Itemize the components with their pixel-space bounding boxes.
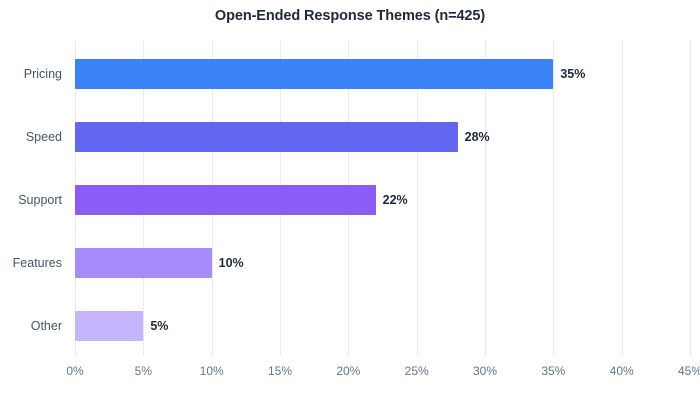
x-tick-label: 30% [455,364,515,378]
bar-value-label: 28% [465,122,490,152]
chart-title: Open-Ended Response Themes (n=425) [0,8,700,24]
y-axis-label-support: Support [0,185,62,215]
gridline [690,40,691,356]
x-tick-label: 10% [182,364,242,378]
bar-value-label: 22% [383,185,408,215]
bars-layer: 35%28%22%10%5% [75,40,690,356]
x-tick-label: 45% [660,364,700,378]
x-tick-label: 0% [45,364,105,378]
bar-row[interactable]: 28% [75,122,690,152]
plot-area: 35%28%22%10%5% [75,40,690,356]
y-axis-label-pricing: Pricing [0,59,62,89]
x-tick-label: 40% [592,364,652,378]
x-tick-label: 5% [113,364,173,378]
bar-support[interactable] [75,185,376,215]
y-axis-label-other: Other [0,311,62,341]
x-tick-label: 20% [318,364,378,378]
bar-row[interactable]: 10% [75,248,690,278]
bar-chart-figure: Open-Ended Response Themes (n=425) 35%28… [0,0,700,400]
y-axis-label-features: Features [0,248,62,278]
y-axis-label-speed: Speed [0,122,62,152]
bar-features[interactable] [75,248,212,278]
bar-row[interactable]: 5% [75,311,690,341]
x-tick-label: 15% [250,364,310,378]
bar-pricing[interactable] [75,59,553,89]
bar-row[interactable]: 22% [75,185,690,215]
x-tick-label: 35% [523,364,583,378]
bar-value-label: 35% [560,59,585,89]
bar-value-label: 5% [150,311,168,341]
bar-value-label: 10% [219,248,244,278]
bar-other[interactable] [75,311,143,341]
bar-speed[interactable] [75,122,458,152]
bar-row[interactable]: 35% [75,59,690,89]
x-tick-label: 25% [387,364,447,378]
